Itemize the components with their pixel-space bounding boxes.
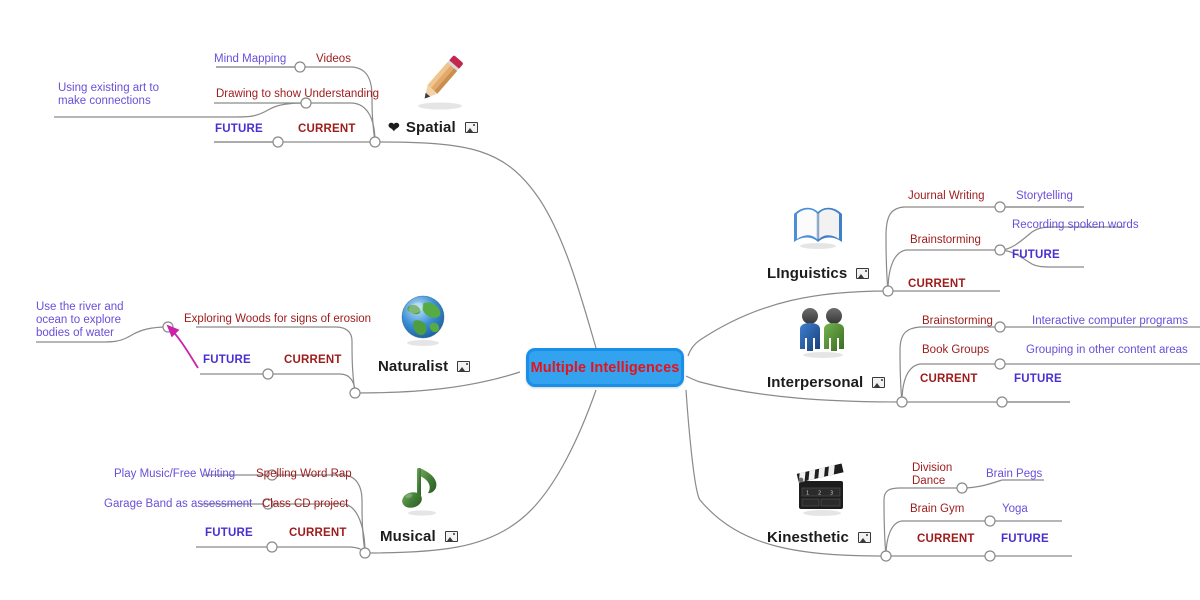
leaf-videos[interactable]: Videos [316, 53, 351, 66]
leaf-storytelling[interactable]: Storytelling [1016, 190, 1073, 203]
leaf-garage-band[interactable]: Garage Band as assessment [104, 498, 252, 511]
leaf-brain-pegs[interactable]: Brain Pegs [986, 468, 1042, 481]
branch-kinesthetic-label: Kinesthetic [767, 529, 849, 546]
two-people-icon [792, 305, 854, 359]
branch-musical[interactable]: Musical [380, 528, 458, 545]
branch-kinesthetic[interactable]: Kinesthetic [767, 529, 871, 546]
open-book-icon [790, 198, 844, 252]
branch-spatial[interactable]: ❤ Spatial [388, 119, 478, 136]
leaf-brain-gym[interactable]: Brain Gym [910, 503, 964, 516]
svg-text:2: 2 [818, 491, 821, 497]
label-interpersonal-current[interactable]: CURRENT [920, 373, 978, 386]
leaf-spelling-word-rap[interactable]: Spelling Word Rap [256, 468, 352, 481]
branch-linguistics[interactable]: LInguistics [767, 265, 869, 282]
leaf-play-music-free-writing[interactable]: Play Music/Free Writing [114, 468, 235, 481]
junction-dots [163, 62, 1007, 561]
branch-spatial-label: Spatial [406, 119, 456, 136]
central-topic-label: Multiple Intelligences [531, 360, 680, 376]
picture-icon[interactable] [445, 531, 458, 542]
label-naturalist-current[interactable]: CURRENT [284, 354, 342, 367]
leaf-mind-mapping[interactable]: Mind Mapping [214, 53, 286, 66]
leaf-division-dance[interactable]: Division Dance [912, 462, 974, 488]
leaf-yoga[interactable]: Yoga [1002, 503, 1028, 516]
branch-interpersonal[interactable]: Interpersonal [767, 374, 885, 391]
leaf-exploring-woods[interactable]: Exploring Woods for signs of erosion [184, 313, 371, 326]
picture-icon[interactable] [872, 377, 885, 388]
branch-interpersonal-label: Interpersonal [767, 374, 863, 391]
label-kinesthetic-future[interactable]: FUTURE [1001, 533, 1049, 546]
branch-naturalist[interactable]: Naturalist [378, 358, 470, 375]
relationship-arrow [168, 326, 198, 368]
music-note-icon [396, 463, 450, 517]
leaf-class-cd-project[interactable]: Class CD project [262, 498, 348, 511]
picture-icon[interactable] [856, 268, 869, 279]
pencil-icon [404, 50, 476, 112]
label-naturalist-future[interactable]: FUTURE [203, 354, 251, 367]
leaf-river-ocean[interactable]: Use the river and ocean to explore bodie… [36, 301, 148, 340]
label-musical-future[interactable]: FUTURE [205, 527, 253, 540]
branch-naturalist-label: Naturalist [378, 358, 448, 375]
globe-icon [396, 293, 450, 347]
picture-icon[interactable] [858, 532, 871, 543]
leaf-using-existing-art[interactable]: Using existing art to make connections [58, 82, 188, 108]
leaf-grouping-content-areas[interactable]: Grouping in other content areas [1026, 344, 1188, 357]
label-interpersonal-future[interactable]: FUTURE [1014, 373, 1062, 386]
clapperboard-icon: 1 2 3 [792, 463, 852, 517]
leaf-linguistics-brainstorming[interactable]: Brainstorming [910, 234, 981, 247]
heart-icon: ❤ [388, 119, 400, 136]
svg-text:3: 3 [830, 491, 833, 497]
leaf-journal-writing[interactable]: Journal Writing [908, 190, 985, 203]
label-linguistics-current[interactable]: CURRENT [908, 278, 966, 291]
label-kinesthetic-current[interactable]: CURRENT [917, 533, 975, 546]
branch-linguistics-label: LInguistics [767, 265, 847, 282]
label-spatial-current[interactable]: CURRENT [298, 123, 356, 136]
picture-icon[interactable] [465, 122, 478, 133]
leaf-interactive-computer-programs[interactable]: Interactive computer programs [1032, 315, 1188, 328]
label-musical-current[interactable]: CURRENT [289, 527, 347, 540]
picture-icon[interactable] [457, 361, 470, 372]
leaf-interpersonal-brainstorming[interactable]: Brainstorming [922, 315, 993, 328]
leaf-recording-spoken-words[interactable]: Recording spoken words [1012, 219, 1139, 232]
central-topic[interactable]: Multiple Intelligences [526, 348, 684, 387]
leaf-drawing-understanding[interactable]: Drawing to show Understanding [216, 88, 379, 101]
leaf-book-groups[interactable]: Book Groups [922, 344, 989, 357]
branch-musical-label: Musical [380, 528, 436, 545]
svg-text:1: 1 [806, 491, 809, 497]
label-linguistics-future[interactable]: FUTURE [1012, 249, 1060, 262]
label-spatial-future[interactable]: FUTURE [215, 123, 263, 136]
mindmap-canvas: Multiple Intelligences [0, 0, 1200, 600]
